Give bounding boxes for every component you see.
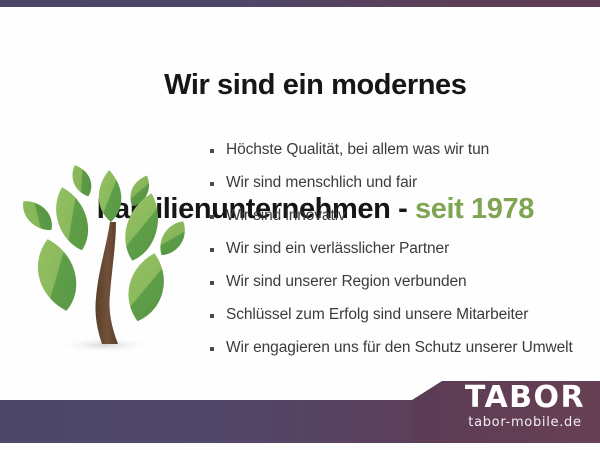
- list-item-label: Wir sind menschlich und fair: [226, 173, 417, 193]
- tree-illustration: [14, 152, 196, 360]
- list-item: Schlüssel zum Erfolg sind unsere Mitarbe…: [210, 305, 600, 338]
- leaf-far-left: [17, 194, 58, 237]
- list-item: Höchste Qualität, bei allem was wir tun: [210, 140, 600, 173]
- list-item: Wir sind innovativ: [210, 206, 600, 239]
- list-item-label: Wir sind ein verlässlicher Partner: [226, 239, 449, 259]
- bottom-edge-strip: [0, 443, 600, 450]
- bullet-icon: [210, 248, 214, 252]
- leaf-mid-right: [118, 189, 166, 265]
- bullet-icon: [210, 215, 214, 219]
- leaf-lower-right: [121, 249, 171, 325]
- bullet-icon: [210, 281, 214, 285]
- leaf-far-right: [153, 216, 192, 260]
- promo-banner: Wir sind ein modernes Familienunternehme…: [0, 0, 600, 450]
- tree-trunk: [95, 222, 118, 344]
- list-item: Wir sind unserer Region verbunden: [210, 272, 600, 305]
- bullet-icon: [210, 149, 214, 153]
- headline-line-1: Wir sind ein modernes: [164, 69, 466, 101]
- bullet-icon: [210, 314, 214, 318]
- leaf-lower-left: [33, 235, 82, 314]
- list-item: Wir sind ein verlässlicher Partner: [210, 239, 600, 272]
- list-item: Wir sind menschlich und fair: [210, 173, 600, 206]
- value-list: Höchste Qualität, bei allem was wir tun …: [210, 140, 600, 371]
- list-item-label: Wir sind innovativ: [226, 206, 346, 226]
- leaf-top-center: [98, 170, 122, 223]
- bullet-icon: [210, 182, 214, 186]
- top-accent-bar: [0, 0, 600, 7]
- leaf-upper-left-small: [68, 162, 96, 200]
- list-item-label: Wir engagieren uns für den Schutz unsere…: [226, 338, 573, 358]
- list-item-label: Wir sind unserer Region verbunden: [226, 272, 467, 292]
- list-item-label: Schlüssel zum Erfolg sind unsere Mitarbe…: [226, 305, 528, 325]
- brand-logo[interactable]: TABOR tabor-mobile.de: [450, 383, 600, 431]
- brand-wordmark: TABOR: [450, 383, 600, 413]
- bullet-icon: [210, 347, 214, 351]
- list-item-label: Höchste Qualität, bei allem was wir tun: [226, 140, 489, 160]
- list-item: Wir engagieren uns für den Schutz unsere…: [210, 338, 600, 371]
- brand-website: tabor-mobile.de: [450, 414, 600, 431]
